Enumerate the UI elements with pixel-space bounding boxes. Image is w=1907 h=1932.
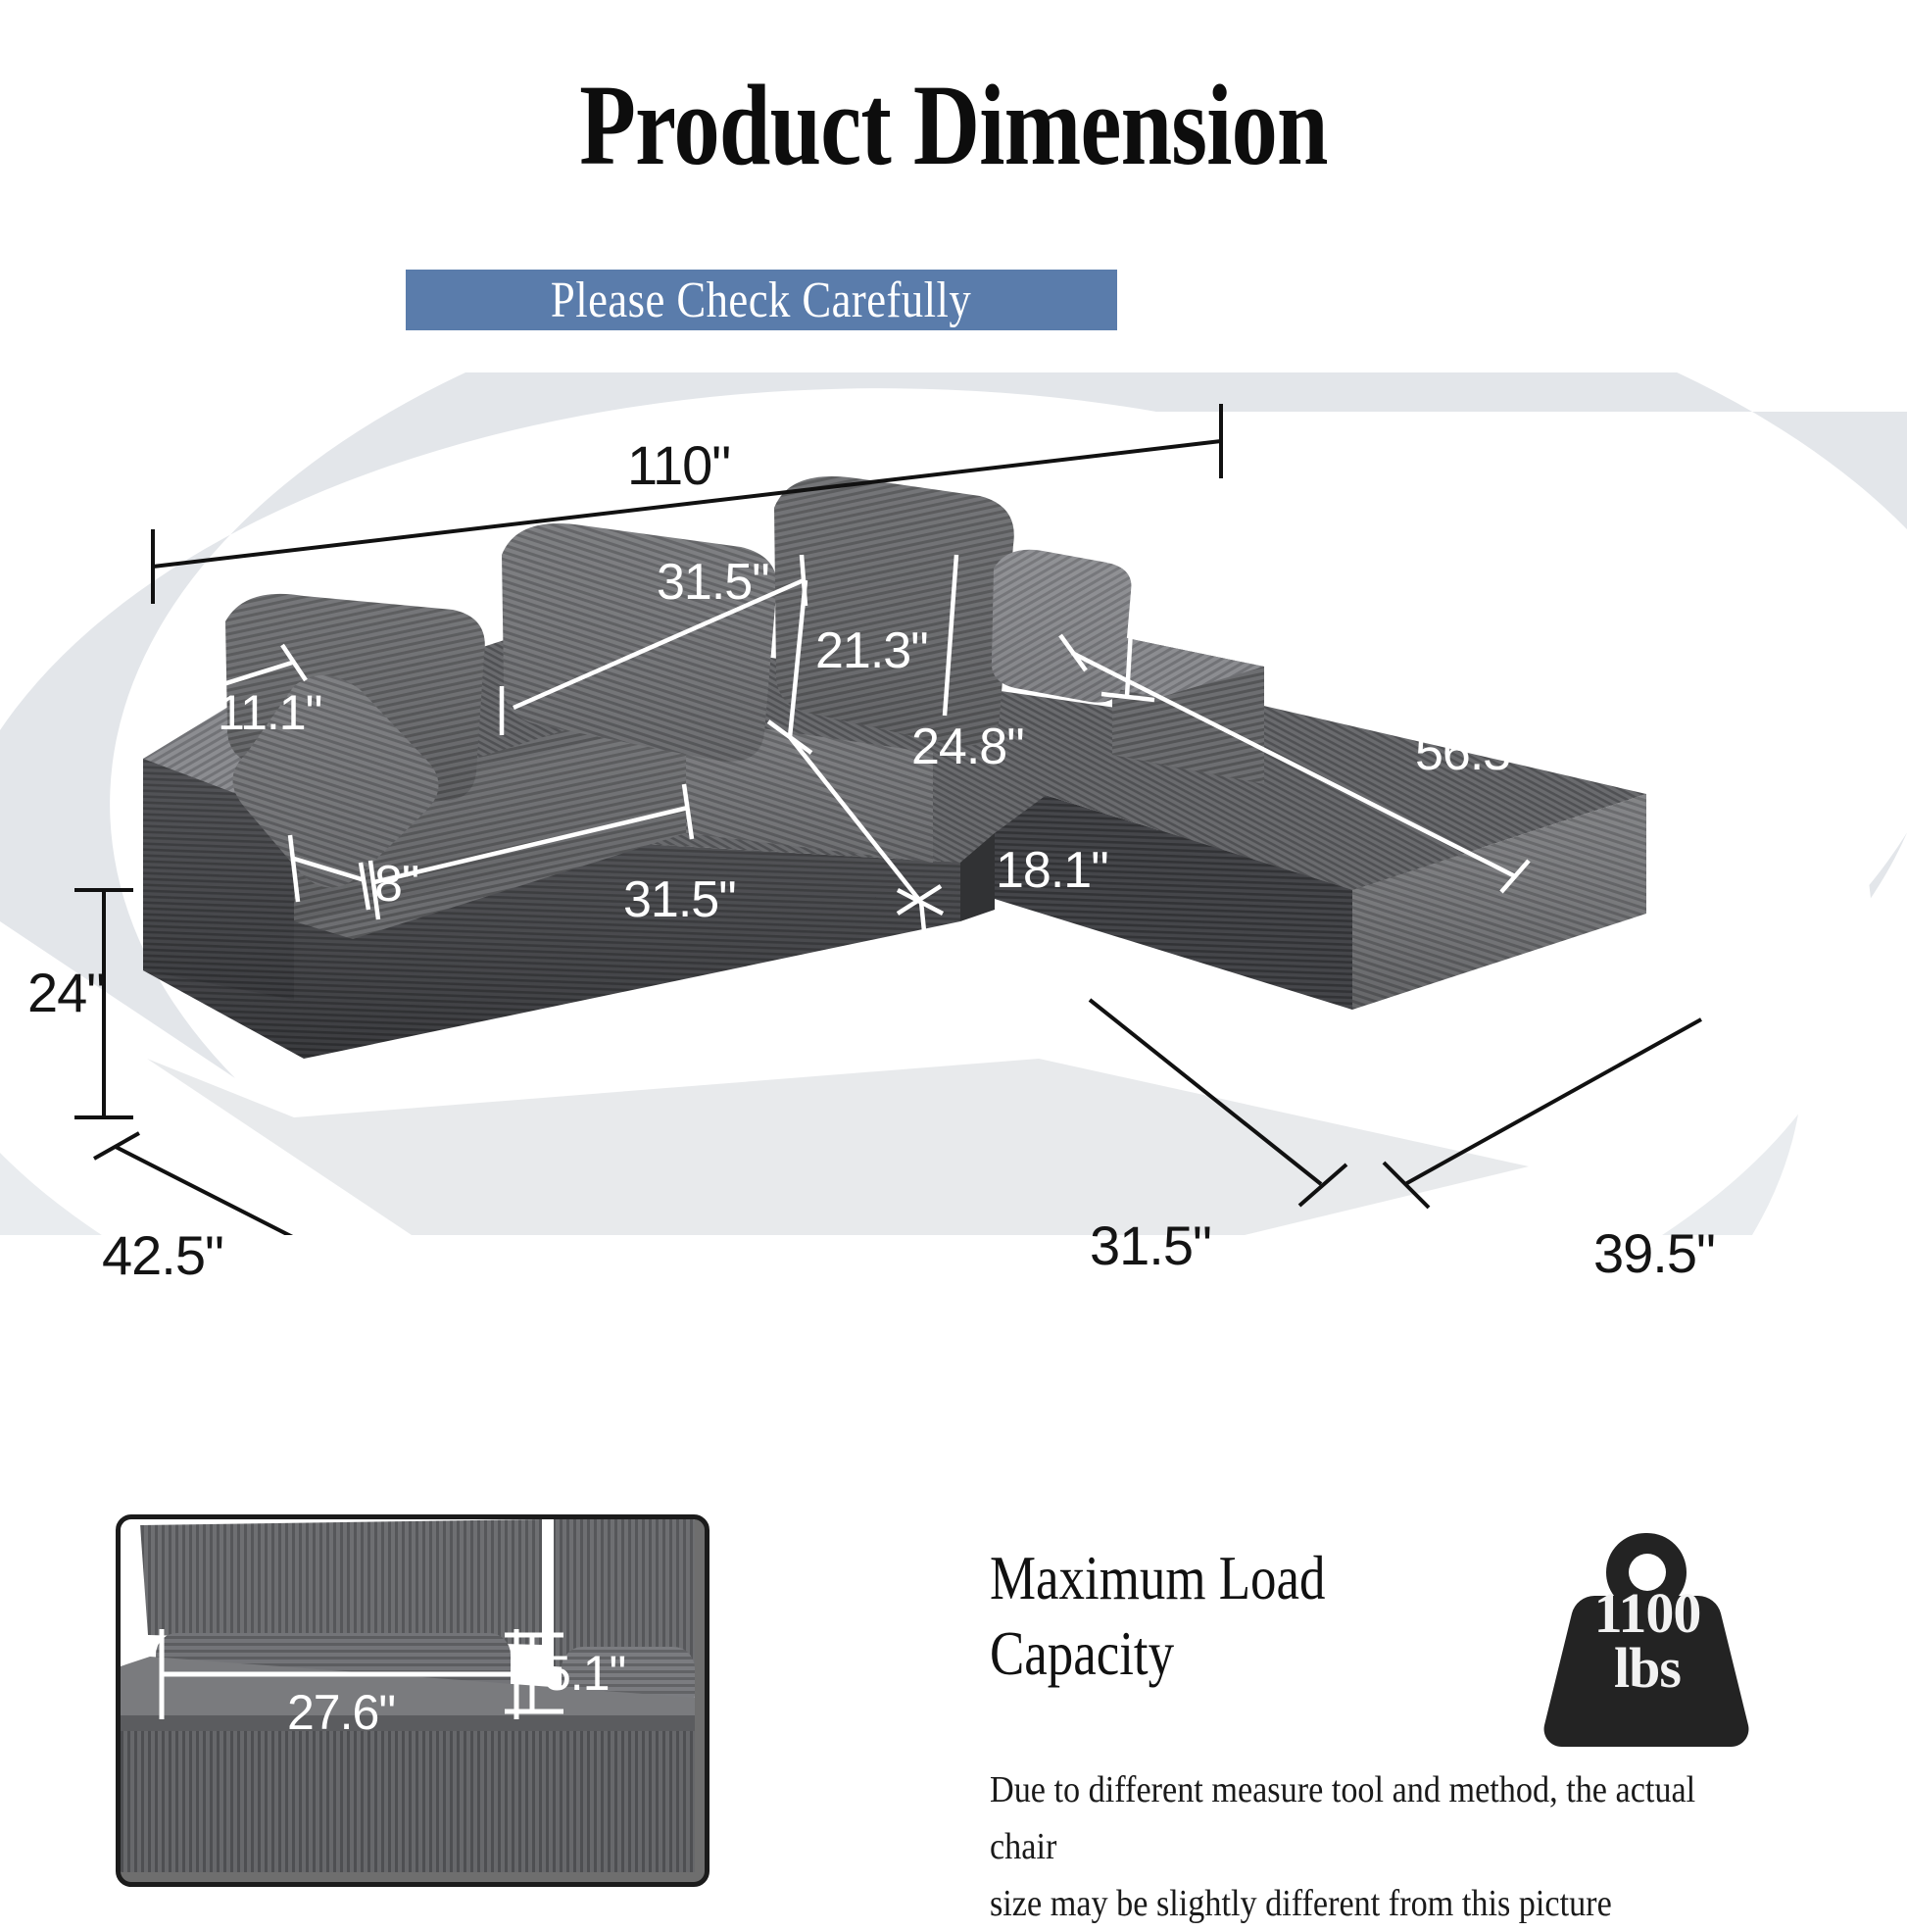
dim-label-overall-height: 24" (27, 961, 105, 1024)
cushion-detail-inset: 27.6" 5.1" (116, 1514, 709, 1887)
dim-label-seat-depth: 24.8" (911, 718, 1024, 776)
weight-icon (1540, 1527, 1754, 1751)
max-load-title: Maximum Load Capacity (990, 1541, 1450, 1692)
page-title: Product Dimension (191, 61, 1717, 190)
dim-label-chaise-width: 39.5" (1593, 1221, 1715, 1285)
dim-label-accent-pillow-height: 14.6" (1156, 580, 1269, 639)
sofa-diagram: 110" 31.5" 21.3" 14.6" 11.1" 24.8" 56.3"… (0, 372, 1907, 1235)
dim-label-chaise-depth: 31.5" (1090, 1214, 1211, 1277)
dim-label-seat-cushion-width: 31.5" (623, 870, 736, 929)
dim-label-back-cushion-width: 31.5" (657, 553, 769, 612)
subtitle-text: Please Check Carefully (551, 272, 971, 329)
dim-label-cushion-width-detail: 27.6" (287, 1684, 395, 1741)
weight-icon-glyph (1540, 1527, 1754, 1751)
infographic-canvas: Product Dimension Please Check Carefully (0, 0, 1907, 1907)
max-load-title-line2: Capacity (990, 1616, 1450, 1692)
dim-label-cushion-thickness: 5.1" (544, 1645, 625, 1702)
dim-label-seat-height: 18.1" (996, 841, 1108, 900)
max-load-title-line1: Maximum Load (990, 1541, 1450, 1616)
subtitle-banner: Please Check Carefully (406, 270, 1117, 330)
dim-label-chaise-length: 56.3" (1415, 723, 1528, 782)
dim-label-back-cushion-height: 21.3" (815, 621, 928, 680)
disclaimer-line2: size may be slightly different from this… (990, 1876, 1722, 1932)
dim-label-overall-width: 110" (627, 433, 730, 497)
dim-label-arm-thickness: 8" (374, 855, 418, 914)
dim-label-overall-depth: 42.5" (102, 1223, 223, 1287)
dim-label-arm-width-top: 11.1" (218, 684, 321, 741)
disclaimer-text: Due to different measure tool and method… (990, 1762, 1722, 1932)
disclaimer-line1: Due to different measure tool and method… (990, 1762, 1722, 1876)
sofa-illustration (0, 372, 1907, 1235)
